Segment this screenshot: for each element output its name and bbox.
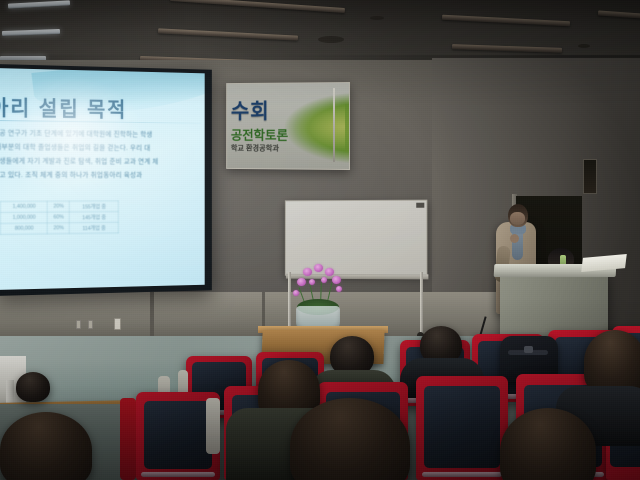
- orchid-bloom: [303, 268, 312, 276]
- slide-body-line: 계로 운영하고 있다. 조직 체계 중의 하나가 취업동아리 육성과: [0, 170, 203, 181]
- slide-body-line: 학생들 졸업생들에게 자기 계발과 진로 탐색, 취업 준비 교과 연계 체: [0, 156, 203, 168]
- event-banner: 수회 공전학토론 학교 환경공학과: [226, 82, 350, 170]
- seat-cushion: [424, 386, 499, 467]
- wall-speaker-icon: [583, 159, 597, 194]
- audience-head: [584, 330, 640, 394]
- lecture-hall-photo: 동아리 설립 목적 대학에서 전공 연구가 기초 단계에 있기에 대학원에 진학…: [0, 0, 640, 480]
- whiteboard: [285, 200, 427, 277]
- orchid-bloom: [336, 286, 342, 292]
- backpack-buckle-icon: [524, 346, 533, 353]
- table-cell: 60%: [48, 212, 70, 223]
- table-cell: 155개업 중: [70, 201, 119, 212]
- orchid-bloom: [293, 290, 299, 296]
- seat-trim: [422, 472, 503, 477]
- banner-pole: [333, 88, 335, 162]
- audience-head: [16, 372, 50, 402]
- orchid-bloom: [309, 279, 315, 285]
- wall-panel-seam: [150, 292, 154, 342]
- wall-outlet-icon: [88, 320, 93, 329]
- orchid-bloom: [332, 276, 341, 284]
- seat-trim: [141, 472, 215, 477]
- slide-body-line: 들과 교수 대부분의 대학 졸업생들은 취업의 길을 걷는다. 우리 대: [0, 142, 203, 155]
- seat-armrest: [120, 398, 136, 480]
- table-cell: 20%: [48, 223, 70, 234]
- projection-screen: 동아리 설립 목적 대학에서 전공 연구가 기초 단계에 있기에 대학원에 진학…: [0, 64, 212, 296]
- auditorium-seat[interactable]: [416, 376, 508, 480]
- table-cell: 114개업 중: [70, 222, 119, 233]
- table-cell: 1,000,000: [0, 212, 47, 223]
- projected-slide: 동아리 설립 목적 대학에서 전공 연구가 기초 단계에 있기에 대학원에 진학…: [0, 68, 205, 290]
- whiteboard-shading: [286, 201, 426, 276]
- audience-head: [0, 412, 92, 480]
- slide-body-line: 대학에서 전공 연구가 기초 단계에 있기에 대학원에 진학하는 학생: [0, 128, 203, 141]
- presenter-face: [510, 212, 525, 225]
- whiteboard-leg: [420, 272, 423, 334]
- wall-outlet-icon: [76, 320, 81, 329]
- orchid-bloom: [297, 278, 306, 286]
- orchid-bloom: [325, 268, 334, 276]
- wall-outlet-icon: [114, 318, 121, 330]
- presenter-hand: [510, 234, 519, 243]
- table-cell: 20%: [48, 201, 70, 212]
- slide-body-text: 대학에서 전공 연구가 기초 단계에 있기에 대학원에 진학하는 학생 들과 교…: [0, 128, 203, 184]
- orchid-bloom: [321, 277, 327, 283]
- table-cell: 1,400,000: [0, 201, 47, 212]
- table-row: 800,000 20% 114개업 중: [0, 222, 118, 234]
- banner-shading: [227, 83, 349, 169]
- seat-cushion: [144, 401, 213, 470]
- orchid-bloom: [314, 264, 323, 272]
- slide-data-table: 1,400,000 20% 155개업 중 1,000,000 60% 145개…: [0, 200, 119, 235]
- seat-armrest: [206, 398, 220, 454]
- table-cell: 800,000: [0, 223, 47, 234]
- whiteboard-leg: [288, 272, 291, 332]
- table-cell: 145개업 중: [70, 212, 119, 223]
